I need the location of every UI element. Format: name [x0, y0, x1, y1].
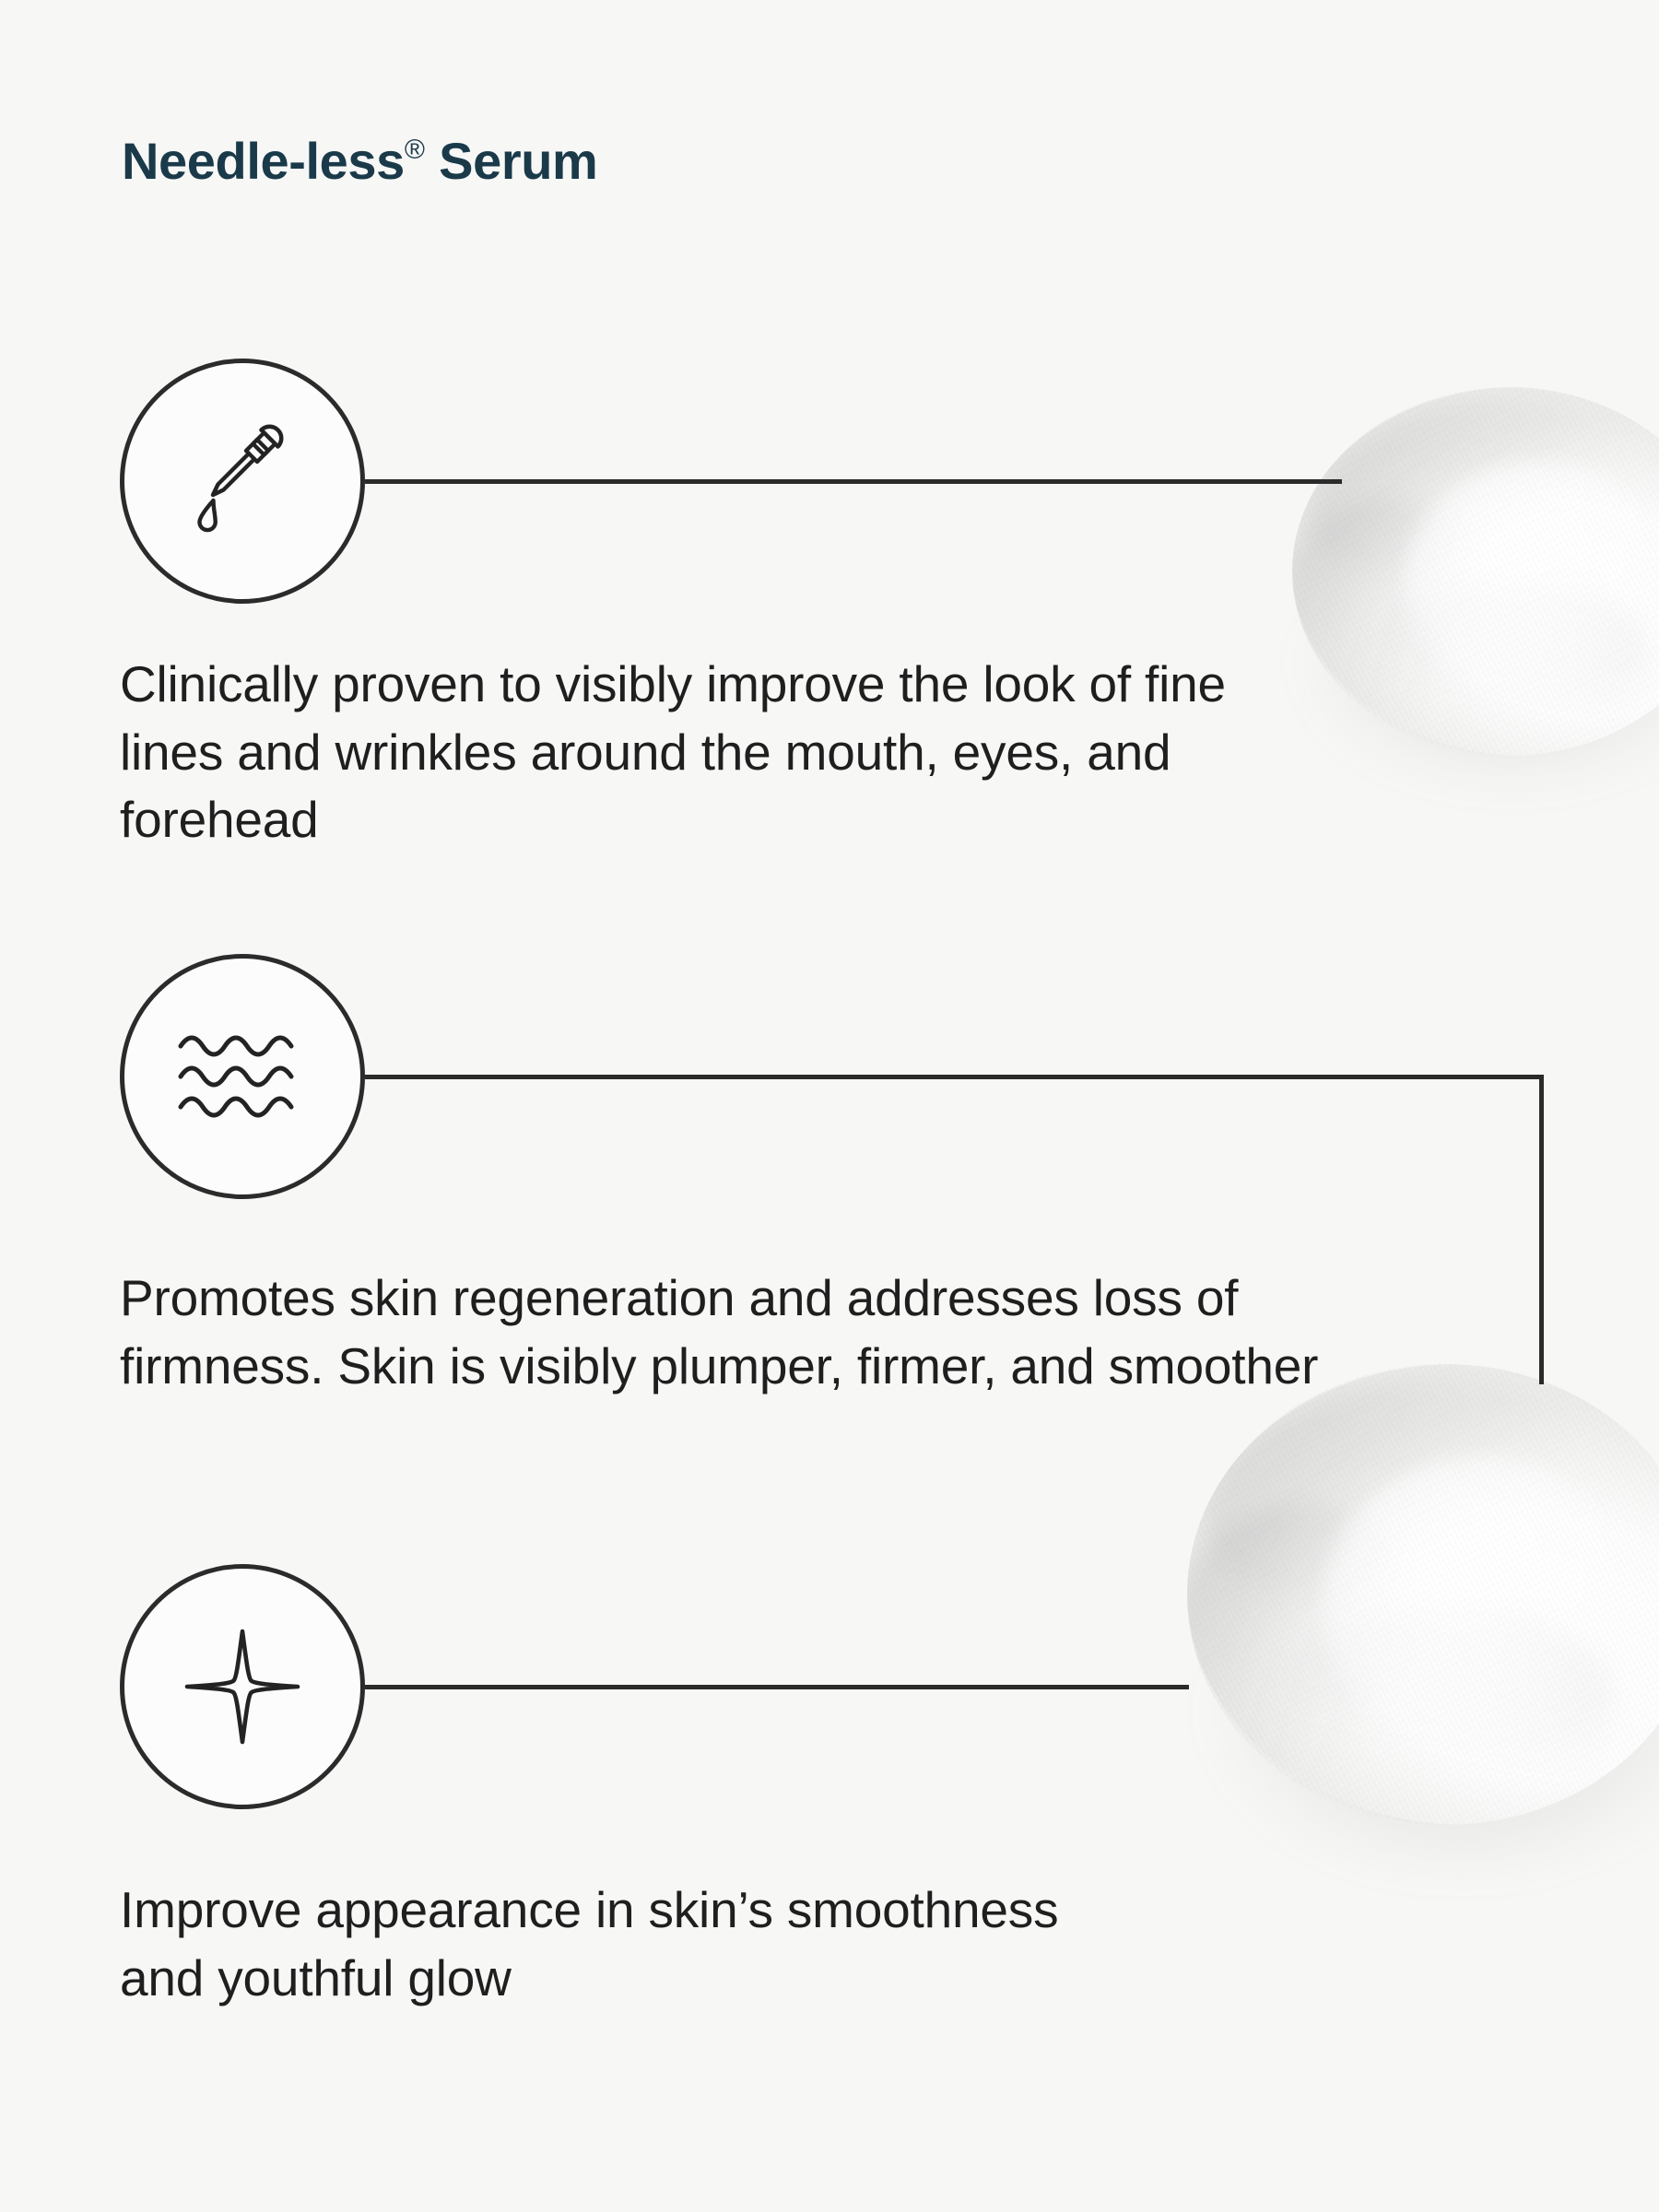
- benefit-icon-circle-2: [120, 954, 365, 1199]
- sparkle-icon: [178, 1622, 307, 1751]
- connector-line-3: [365, 1685, 1189, 1689]
- benefit-icon-circle-1: [120, 359, 365, 604]
- cream-texture-swatch-bottom: [1187, 1364, 1659, 1825]
- swatch-grain: [1292, 387, 1659, 756]
- page-title: Needle-less® Serum: [122, 131, 597, 191]
- product-name-suffix: Serum: [425, 132, 597, 190]
- benefit-text-1: Clinically proven to visibly improve the…: [120, 651, 1336, 854]
- connector-line-2-horizontal: [365, 1075, 1541, 1079]
- dropper-icon: [173, 412, 312, 550]
- product-name: Needle-less: [122, 132, 405, 190]
- registered-trademark-symbol: ®: [405, 135, 425, 165]
- benefit-text-2: Promotes skin regeneration and addresses…: [120, 1265, 1429, 1400]
- connector-line-2-vertical: [1539, 1075, 1544, 1384]
- swatch-grain: [1187, 1364, 1659, 1825]
- wavy-lines-icon: [177, 1026, 308, 1127]
- benefit-icon-circle-3: [120, 1564, 365, 1809]
- infographic-canvas: Needle-less® Serum: [0, 0, 1659, 2212]
- swatch-body: [1187, 1364, 1659, 1825]
- swatch-body: [1292, 387, 1659, 756]
- connector-line-1: [365, 479, 1342, 484]
- cream-texture-swatch-top: [1292, 387, 1659, 756]
- benefit-text-3: Improve appearance in skin’s smoothness …: [120, 1877, 1134, 2012]
